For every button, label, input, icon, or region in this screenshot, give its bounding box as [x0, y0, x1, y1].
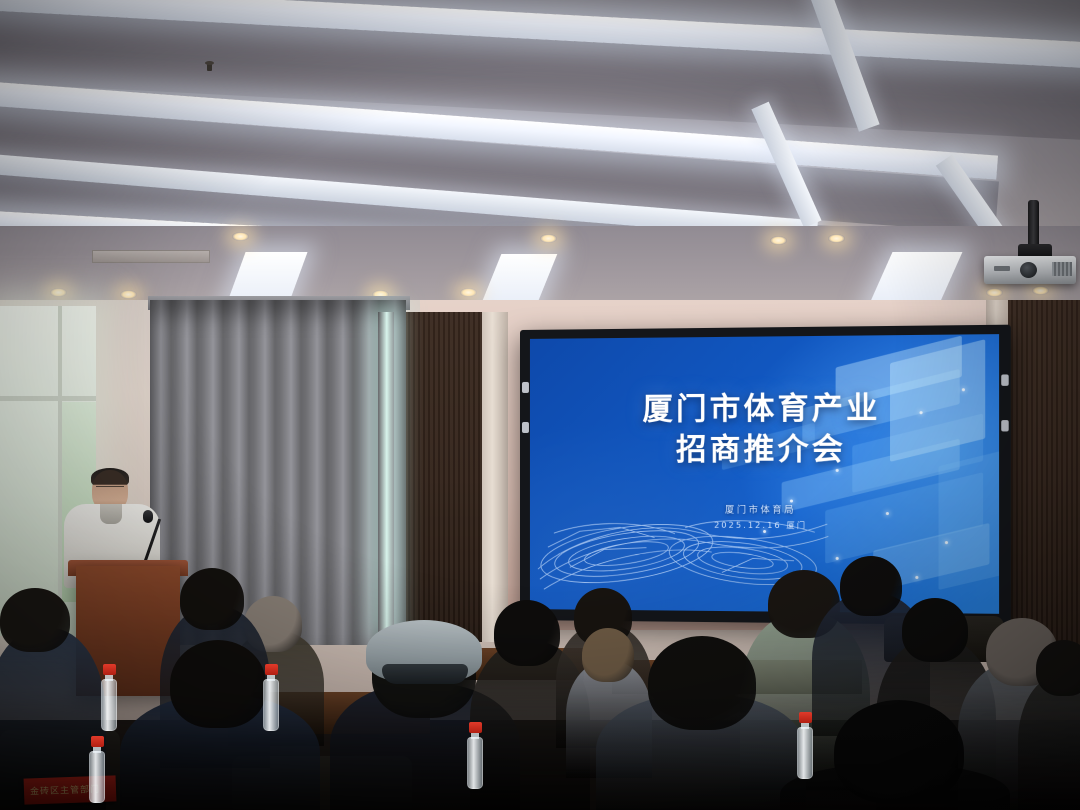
screen-title: 厦门市体育产业 招商推介会: [530, 388, 999, 470]
bottle-body: [263, 679, 279, 731]
attendee-head: [834, 700, 964, 804]
ceiling-projector: [978, 200, 1078, 292]
projector-lens: [1020, 262, 1037, 278]
attendee-foreground-black: [780, 700, 1010, 810]
attendee-head: [494, 600, 560, 666]
bottle-body: [797, 727, 813, 779]
ceiling-downlight: [540, 234, 557, 243]
bottle-body: [89, 751, 105, 803]
air-vent: [92, 250, 210, 263]
water-bottle: [466, 722, 484, 788]
cap-brim: [382, 664, 468, 684]
screen-date-location: 2025.12.16 厦门: [530, 519, 999, 532]
attendee-head: [1036, 640, 1080, 696]
water-bottle: [88, 736, 106, 802]
sprinkler-head: [205, 60, 214, 71]
water-bottle: [262, 664, 280, 730]
wood-wall-panel-left: [398, 312, 484, 642]
bottle-body: [467, 737, 483, 789]
screen-bezel-reflection: [1001, 374, 1008, 385]
bottle-cap: [91, 736, 104, 747]
screen-bezel-reflection: [522, 382, 529, 393]
speaker-glasses: [96, 486, 124, 491]
projector-grille: [1052, 262, 1072, 276]
screen-title-line1: 厦门市体育产业: [642, 391, 880, 428]
wood-wall-panel-right: [1006, 300, 1080, 650]
screen-bezel-reflection: [522, 422, 529, 433]
attendee-head: [180, 568, 244, 630]
microphone-head: [143, 510, 153, 523]
attendee-head: [0, 588, 70, 652]
water-bottle: [796, 712, 814, 778]
wall-pillar-left: [482, 312, 508, 642]
attendee-far-right-edge: [1018, 640, 1080, 810]
attendee-gray-puffer: [596, 636, 806, 810]
bottle-body: [101, 679, 117, 731]
ceiling-downlight: [770, 236, 787, 245]
ceiling-downlight: [120, 290, 137, 299]
bottle-neck: [93, 746, 101, 753]
bottle-neck: [267, 674, 275, 681]
bottle-neck: [471, 732, 479, 739]
screen-organizer: 厦门市体育局: [530, 502, 999, 516]
attendee-head: [170, 640, 266, 728]
window-mullion: [0, 396, 96, 401]
ceiling-downlight: [460, 288, 477, 297]
speaker-collar: [100, 504, 122, 524]
attendee-head: [648, 636, 756, 730]
screen-particle: [945, 541, 948, 544]
bottle-neck: [801, 722, 809, 729]
bottle-cap: [103, 664, 116, 675]
ceiling-downlight: [50, 288, 67, 297]
projector-vent: [994, 266, 1010, 271]
conference-photo-scene: 厦门市体育产业 招商推介会 厦门市体育局 2025.12.16 厦门 金砖区主管…: [0, 0, 1080, 810]
bottle-cap: [799, 712, 812, 723]
projector-mount-pole: [1028, 200, 1039, 248]
screen-bezel-reflection: [1001, 420, 1008, 431]
bottle-neck: [105, 674, 113, 681]
bottle-cap: [469, 722, 482, 733]
window-light-gap: [378, 312, 394, 632]
screen-title-line2: 招商推介会: [530, 429, 999, 470]
water-bottle: [100, 664, 118, 730]
ceiling-downlight: [232, 232, 249, 241]
bottle-cap: [265, 664, 278, 675]
ceiling-downlight: [828, 234, 845, 243]
attendee-blue-plaid-center: [120, 640, 320, 810]
